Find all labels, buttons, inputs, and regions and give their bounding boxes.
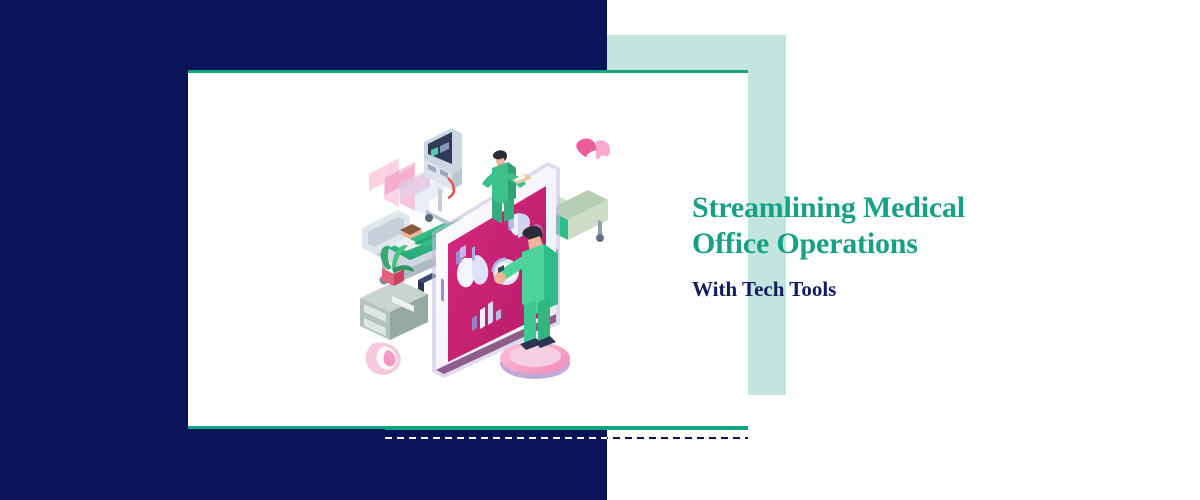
podium-platform: [500, 342, 570, 379]
bedside-cabinet-icon: [360, 280, 428, 340]
dashed-divider-line-light: [385, 437, 607, 439]
title-line-2: Office Operations: [692, 227, 918, 260]
isometric-medical-technology-illustration: [352, 128, 614, 380]
teal-divider-line: [385, 428, 748, 430]
capsule-pills-icon: [576, 139, 610, 173]
heading-block: Streamlining Medical Office Operations W…: [692, 190, 1122, 302]
banner-stage: Streamlining Medical Office Operations W…: [0, 0, 1200, 500]
abstract-pink-swirl-icon: [366, 342, 401, 374]
page-title: Streamlining Medical Office Operations: [692, 190, 1122, 262]
title-line-1: Streamlining Medical: [692, 191, 965, 224]
page-subtitle: With Tech Tools: [692, 276, 1122, 302]
